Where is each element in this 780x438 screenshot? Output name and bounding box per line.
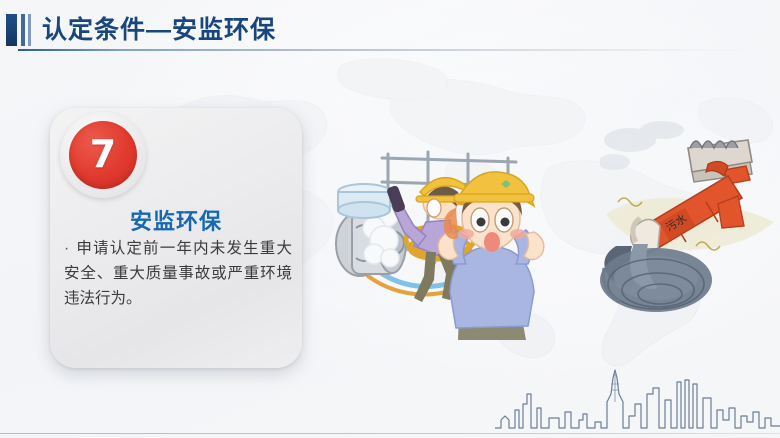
card-body-content: 申请认定前一年内未发生重大安全、重大质量事故或严重环境违法行为。 bbox=[64, 240, 292, 307]
slide-title-bar: 认定条件—安监环保 bbox=[0, 8, 780, 48]
badge-ring: 7 bbox=[60, 112, 146, 198]
badge-number: 7 bbox=[90, 135, 116, 173]
slide-canvas: 认定条件—安监环保 7 安监环保 ·申请认定前一年内未发生重大安全、重大质量事故… bbox=[0, 0, 780, 438]
title-accent-bar-thin-2 bbox=[28, 14, 31, 46]
number-badge: 7 bbox=[69, 121, 137, 189]
title-accent-bar-thick bbox=[6, 14, 17, 46]
title-accent-bar-thin-1 bbox=[21, 14, 25, 46]
construction-safety-accident-illustration bbox=[330, 140, 580, 340]
bottom-rule bbox=[0, 433, 780, 435]
page-title: 认定条件—安监环保 bbox=[42, 10, 276, 46]
title-underline-rule bbox=[18, 49, 770, 51]
card-body-text: ·申请认定前一年内未发生重大安全、重大质量事故或严重环境违法行为。 bbox=[64, 236, 292, 311]
content-card: 7 安监环保 ·申请认定前一年内未发生重大安全、重大质量事故或严重环境违法行为。 bbox=[50, 108, 302, 368]
bullet-marker: · bbox=[64, 240, 69, 257]
industrial-wastewater-discharge-illustration: 污水 bbox=[600, 118, 780, 323]
card-heading: 安监环保 bbox=[50, 204, 302, 236]
city-skyline-outline bbox=[495, 364, 780, 430]
